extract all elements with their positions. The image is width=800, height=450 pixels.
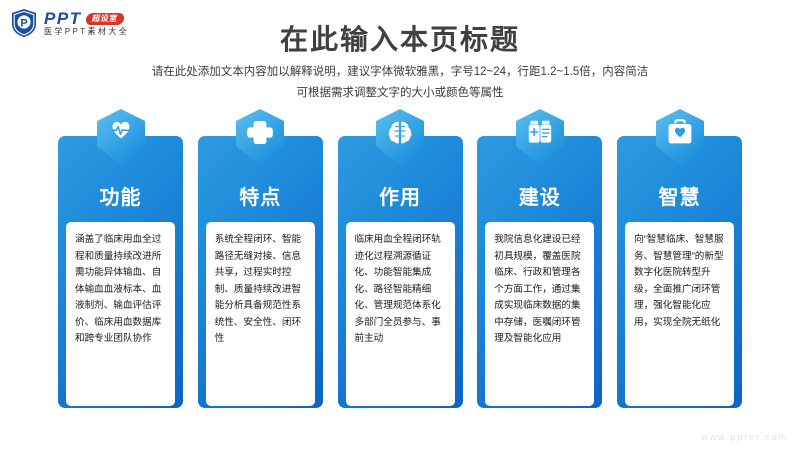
card-title: 特点: [239, 188, 281, 208]
card-title: 作用: [379, 188, 421, 208]
card-body-text: 系统全程闭环、智能路径无缝对接、信息共享，过程实时控制、质量持续改进智能分析具备…: [206, 222, 315, 406]
card-title: 智慧: [659, 188, 701, 208]
info-card-5[interactable]: 智慧 向“智慧临床、智慧服务、智慧管理”的新型数字化医院转型升级，全面推广闭环管…: [617, 136, 742, 408]
info-card-4[interactable]: 建设 我院信息化建设已经初具规模，覆盖医院临床、行政和管理各个方面工作，通过集成…: [477, 136, 602, 408]
page-subtitle: 请在此处添加文本内容加以解释说明，建议字体微软雅黑，字号12~24，行距1.2~…: [0, 62, 800, 105]
info-card-1[interactable]: 功能 涵盖了临床用血全过程和质量持续改进所需功能异体输血、自体输血血液标本、血液…: [58, 136, 183, 408]
brain-icon: [374, 108, 426, 166]
card-body-text: 临床用血全程闭环轨迹化过程溯源循证化、功能智能集成化、路径智能精细化、管理规范体…: [346, 222, 455, 406]
medical-cross-icon: [234, 108, 286, 166]
subtitle-line-1: 请在此处添加文本内容加以解释说明，建议字体微软雅黑，字号12~24，行距1.2~…: [0, 62, 800, 83]
card-body-text: 向“智慧临床、智慧服务、智慧管理”的新型数字化医院转型升级，全面推广闭环管理，强…: [625, 222, 734, 406]
card-body-text: 涵盖了临床用血全过程和质量持续改进所需功能异体输血、自体输血血液标本、血液制剂、…: [66, 222, 175, 406]
card-body-text: 我院信息化建设已经初具规模，覆盖医院临床、行政和管理各个方面工作，通过集成实现临…: [485, 222, 594, 406]
medicine-bottles-icon: [514, 108, 566, 166]
page-title: 在此输入本页标题: [0, 18, 800, 58]
card-title: 功能: [100, 188, 142, 208]
medical-bag-icon: [654, 108, 706, 166]
subtitle-line-2: 可根据需求调整文字的大小或颜色等属性: [0, 83, 800, 104]
footer-watermark: www.ppter.com: [701, 432, 788, 442]
heart-pulse-icon: [95, 108, 147, 166]
info-card-3[interactable]: 作用 临床用血全程闭环轨迹化过程溯源循证化、功能智能集成化、路径智能精细化、管理…: [338, 136, 463, 408]
card-row: 功能 涵盖了临床用血全过程和质量持续改进所需功能异体输血、自体输血血液标本、血液…: [58, 136, 742, 408]
card-title: 建设: [519, 188, 561, 208]
info-card-2[interactable]: 特点 系统全程闭环、智能路径无缝对接、信息共享，过程实时控制、质量持续改进智能分…: [198, 136, 323, 408]
